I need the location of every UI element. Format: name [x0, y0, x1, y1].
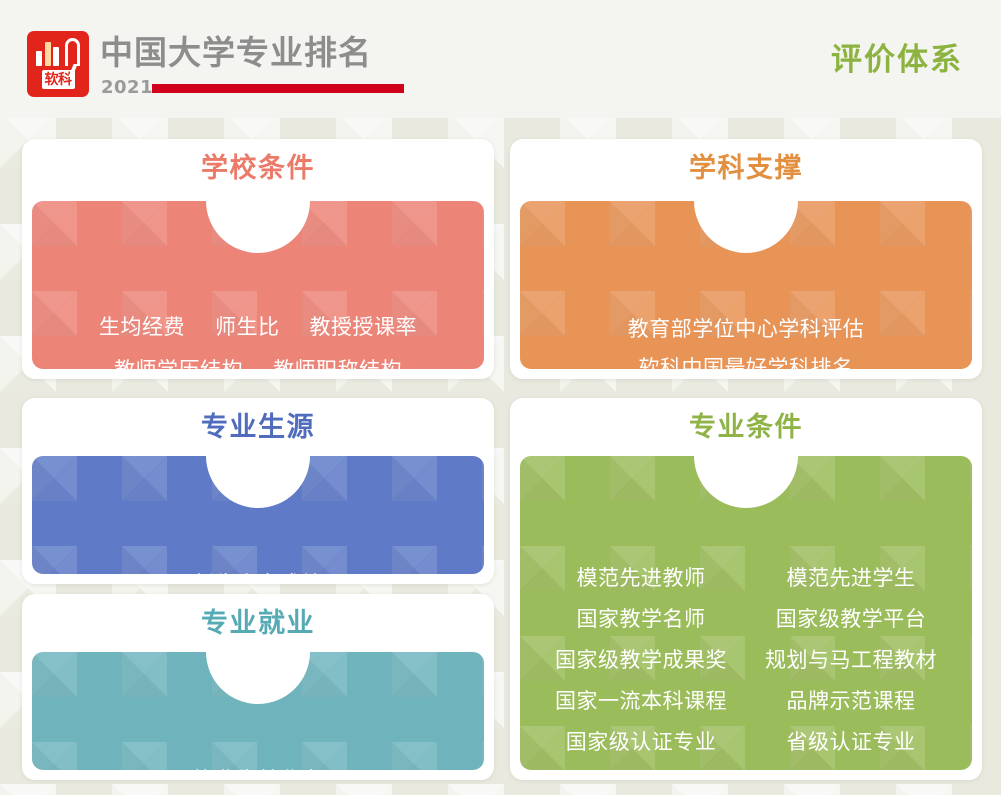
- criteria-card-major[interactable]: 专业条件 30 模范先进教师 模范先进学生 国家教学名师 国家级教学平台 国家级…: [510, 398, 982, 780]
- indicator-list-major: 模范先进教师 模范先进学生 国家教学名师 国家级教学平台 国家级教学成果奖 规划…: [520, 568, 972, 753]
- list-item: 教育部学位中心学科评估: [628, 319, 865, 340]
- list-item: 教师职称结构: [273, 360, 402, 369]
- list-item: 国家级教学成果奖: [555, 650, 727, 671]
- card-title-employment: 专业就业: [22, 610, 494, 637]
- list-item: 师生比: [215, 317, 280, 338]
- score-value-discipline: 20: [694, 203, 798, 238]
- evaluation-criteria-grid: 学校条件 10 生均经费 师生比 教授授课率 教师学历结构 教师职称结构 学科支…: [0, 0, 1001, 795]
- list-item: 生均经费: [99, 317, 185, 338]
- score-value-source: 20: [206, 458, 310, 493]
- criteria-card-school[interactable]: 学校条件 10 生均经费 师生比 教授授课率 教师学历结构 教师职称结构: [22, 139, 494, 379]
- card-title-school: 学校条件: [22, 155, 494, 182]
- ruanke-logo-icon: 软科: [27, 31, 89, 97]
- list-item: 品牌示范课程: [787, 691, 916, 712]
- card-panel-discipline: 20 教育部学位中心学科评估 软科中国最好学科排名: [520, 201, 972, 369]
- card-panel-employment: 5 毕业生就业率: [32, 652, 484, 770]
- list-item: 模范先进学生: [787, 568, 916, 589]
- list-item: 软科中国最好学科排名: [639, 358, 854, 369]
- list-item: 国家教学名师: [577, 609, 706, 630]
- criteria-card-employment[interactable]: 专业就业 5 毕业生就业率: [22, 594, 494, 780]
- score-value-employment: 5: [206, 654, 310, 689]
- logo-bars-icon: [36, 38, 80, 66]
- list-item: 国家级认证专业: [566, 732, 717, 753]
- list-item: 模范先进教师: [577, 568, 706, 589]
- card-panel-major: 30 模范先进教师 模范先进学生 国家教学名师 国家级教学平台 国家级教学成果奖…: [520, 456, 972, 770]
- page-header: 软科 中国大学专业排名 2021 评价体系: [0, 0, 1001, 118]
- score-value-major: 30: [694, 458, 798, 493]
- list-item: 国家一流本科课程: [555, 691, 727, 712]
- card-title-source: 专业生源: [22, 414, 494, 441]
- edition-year: 2021: [101, 79, 153, 97]
- section-label: 评价体系: [831, 44, 963, 75]
- card-title-major: 专业条件: [510, 414, 982, 441]
- page-title: 中国大学专业排名: [100, 36, 372, 69]
- list-item: 规划与马工程教材: [765, 650, 937, 671]
- indicator-list-discipline: 教育部学位中心学科评估 软科中国最好学科排名: [520, 319, 972, 369]
- score-value-school: 10: [206, 203, 310, 238]
- card-panel-school: 10 生均经费 师生比 教授授课率 教师学历结构 教师职称结构: [32, 201, 484, 369]
- list-item: 省级认证专业: [787, 732, 916, 753]
- list-item: 国家级教学平台: [776, 609, 927, 630]
- card-panel-source: 20 新生高考成绩: [32, 456, 484, 574]
- list-item: 教授授课率: [310, 317, 418, 338]
- logo-letter-r-icon: [65, 38, 80, 66]
- criteria-card-discipline[interactable]: 学科支撑 20 教育部学位中心学科评估 软科中国最好学科排名: [510, 139, 982, 379]
- title-underline-rule: [152, 84, 404, 93]
- indicator-list-school: 生均经费 师生比 教授授课率 教师学历结构 教师职称结构: [32, 317, 484, 369]
- criteria-card-source[interactable]: 专业生源 20 新生高考成绩: [22, 398, 494, 584]
- list-item: 教师学历结构: [114, 360, 243, 369]
- card-title-discipline: 学科支撑: [510, 155, 982, 182]
